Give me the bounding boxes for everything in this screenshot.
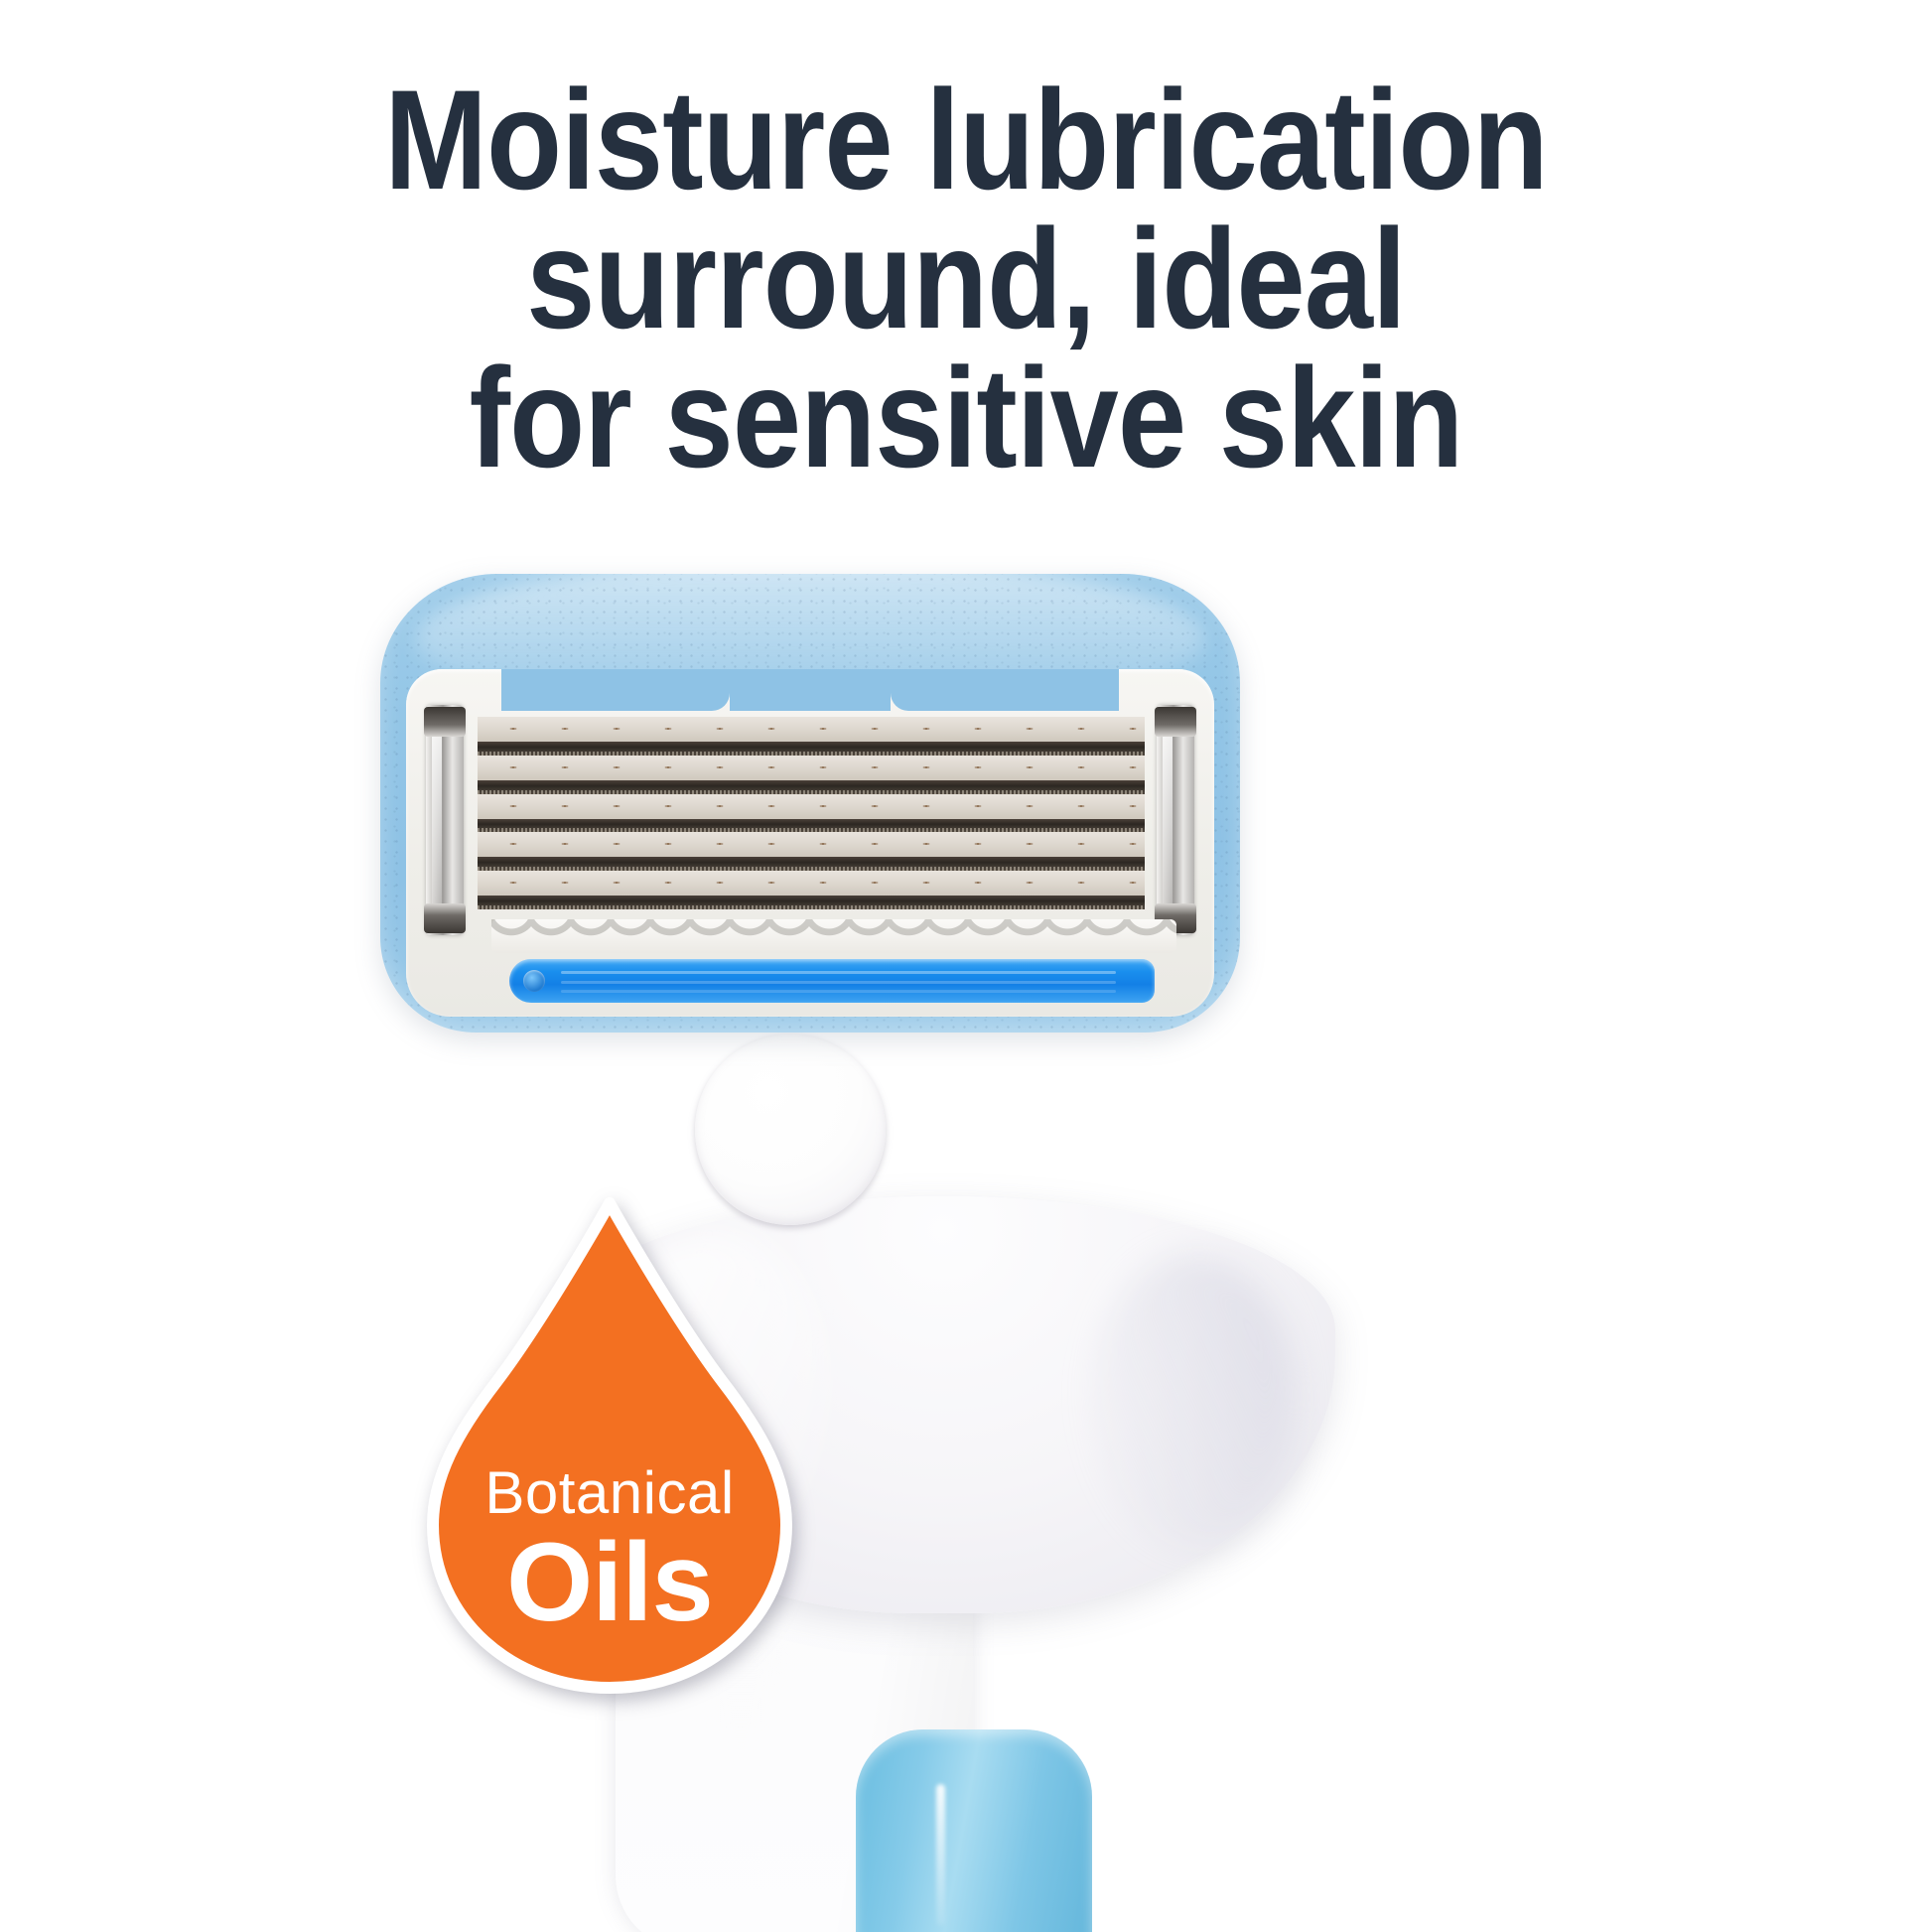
- guard-bar: [491, 919, 1176, 953]
- lubrication-strip-dimple: [523, 970, 545, 992]
- blade-dot-pattern: [478, 761, 1145, 773]
- blade-end-clip-right: [1157, 705, 1194, 935]
- blade-row: [478, 717, 1145, 756]
- botanical-oils-badge: Botanical Oils: [425, 1197, 794, 1694]
- blade-end-clip-left: [426, 705, 464, 935]
- blade-dot-pattern: [478, 723, 1145, 735]
- badge-text: Botanical Oils: [425, 1463, 794, 1638]
- clip-cap: [424, 903, 466, 933]
- blade-edge: [478, 857, 1145, 871]
- razor-product-image: [0, 0, 1932, 1932]
- badge-line-botanical: Botanical: [425, 1463, 794, 1523]
- lubrication-strip-line: [561, 971, 1116, 974]
- cartridge-notch-fill: [730, 669, 891, 711]
- razor-grip-insert: [856, 1729, 1092, 1932]
- blade-edge: [478, 742, 1145, 756]
- blade-row: [478, 832, 1145, 871]
- lubrication-strip-line: [561, 981, 1116, 984]
- blade-row: [478, 794, 1145, 833]
- cartridge-notch-right: [891, 669, 1119, 711]
- lubrication-strip-line: [561, 990, 1116, 993]
- clip-cap: [424, 707, 466, 737]
- blade-row: [478, 871, 1145, 909]
- blade-dot-pattern: [478, 800, 1145, 812]
- blade-dot-pattern: [478, 877, 1145, 889]
- blade-row: [478, 756, 1145, 794]
- blade-stack: [478, 717, 1145, 909]
- cartridge-housing: [406, 669, 1214, 1017]
- blade-dot-pattern: [478, 838, 1145, 850]
- product-feature-image: Moisture lubrication surround, ideal for…: [0, 0, 1932, 1932]
- blade-edge: [478, 896, 1145, 909]
- guard-bar-scallops: [491, 919, 1176, 953]
- razor-cartridge-head: [380, 574, 1240, 1033]
- cartridge-notch-left: [501, 669, 730, 711]
- clip-cap: [1155, 707, 1196, 737]
- lubrication-strip: [509, 959, 1155, 1003]
- blade-edge: [478, 780, 1145, 794]
- blade-edge: [478, 819, 1145, 833]
- badge-line-oils: Oils: [425, 1527, 794, 1638]
